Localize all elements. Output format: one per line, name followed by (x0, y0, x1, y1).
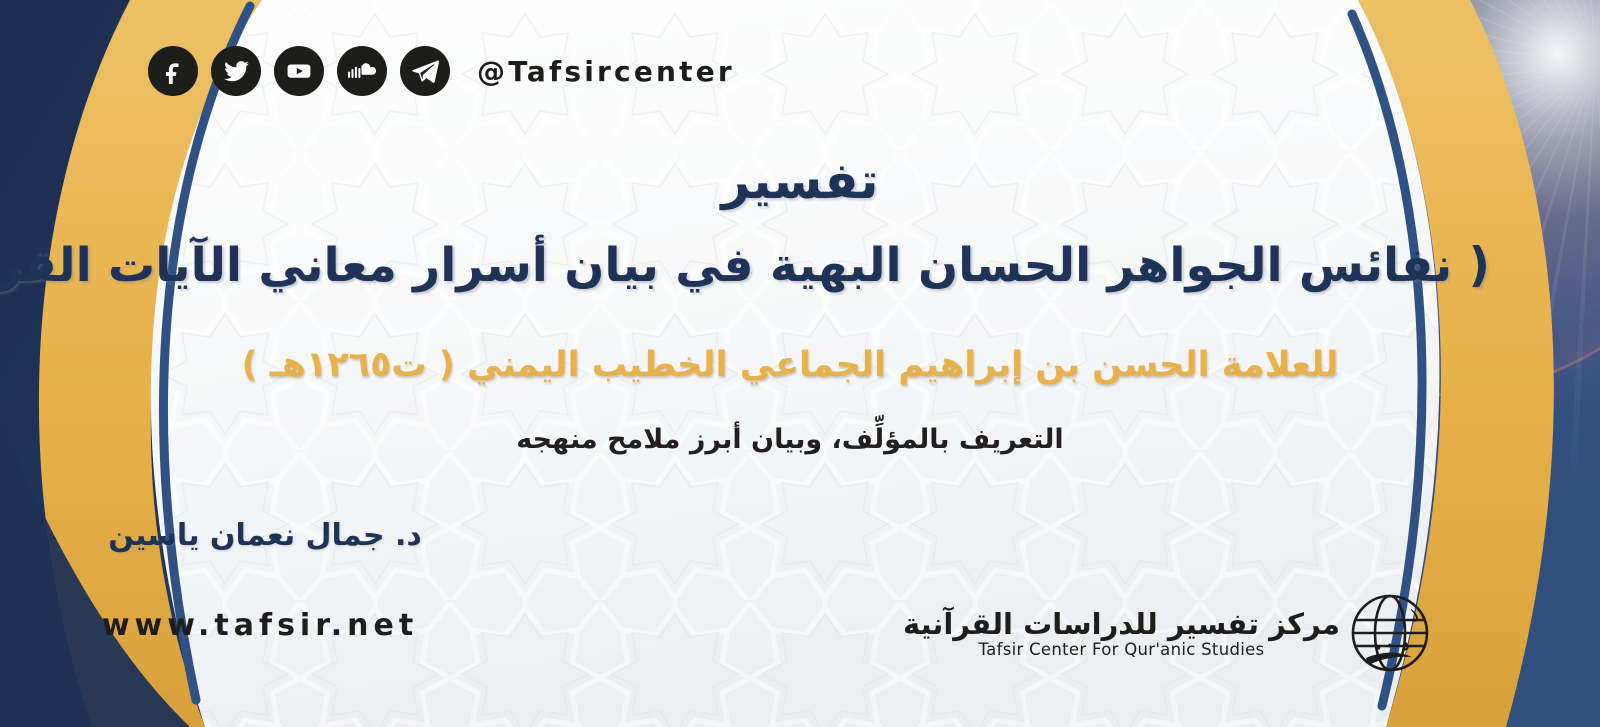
brand-text: مركز تفسير للدراسات القرآنية Tafsir Cent… (903, 610, 1340, 659)
globe-tafsir-logo-icon (1348, 586, 1432, 682)
kicker-title: تفسير (0, 152, 1600, 210)
page-title: ( نفائس الجواهر الحسان البهية في بيان أس… (90, 238, 1490, 294)
banner-content: @Tafsircenter تفسير ( نفائس الجواهر الحس… (0, 0, 1600, 727)
telegram-icon[interactable] (400, 46, 450, 96)
soundcloud-icon[interactable] (337, 46, 387, 96)
tafsir-banner: @Tafsircenter تفسير ( نفائس الجواهر الحس… (0, 0, 1600, 727)
brand-lockup: مركز تفسير للدراسات القرآنية Tafsir Cent… (903, 586, 1432, 682)
subtitle-line: التعريف بالمؤلِّف، وبيان أبرز ملامح منهج… (120, 424, 1460, 455)
youtube-icon[interactable] (274, 46, 324, 96)
social-links: @Tafsircenter (148, 46, 735, 96)
author-attribution-line: للعلامة الحسن بن إبراهيم الجماعي الخطيب … (120, 344, 1460, 388)
website-url[interactable]: www.tafsir.net (0, 608, 520, 643)
brand-name-arabic: مركز تفسير للدراسات القرآنية (903, 610, 1340, 639)
facebook-icon[interactable] (148, 46, 198, 96)
presenter-name: د. جمال نعمان ياسين (0, 518, 530, 553)
social-handle: @Tafsircenter (477, 55, 735, 88)
brand-name-english: Tafsir Center For Qur'anic Studies (979, 640, 1265, 659)
twitter-icon[interactable] (211, 46, 261, 96)
